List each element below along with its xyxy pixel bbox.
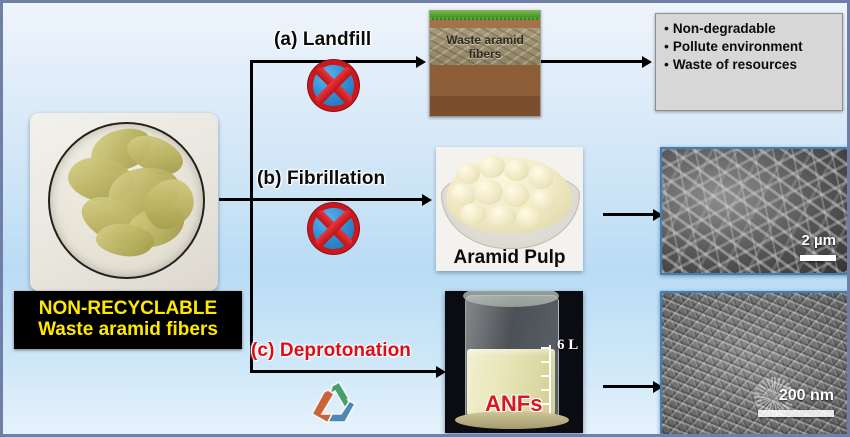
graduation-rail [549, 345, 551, 419]
no-entry-icon [313, 65, 354, 106]
arrowhead-landfill [416, 56, 426, 68]
no-entry-icon [313, 208, 354, 249]
flow-line-anfs-tem [603, 385, 655, 388]
bullet-icon: • [664, 57, 669, 71]
bullet-icon: • [664, 21, 669, 35]
route-label-landfill: (a) Landfill [274, 29, 371, 51]
outcome-label: Waste of resources [673, 57, 797, 74]
outcome-label: Pollute environment [673, 39, 803, 56]
anfs-photo: 6 L ANFs [445, 291, 583, 433]
grass-layer [430, 11, 540, 20]
deep-soil-layer [430, 96, 540, 116]
tem-aramid-nanofibers: 200 nm [660, 291, 850, 437]
scale-bar [758, 410, 834, 417]
route-label-fibrillation: (b) Fibrillation [257, 168, 385, 190]
aramid-pulp-photo: Aramid Pulp [436, 147, 583, 271]
flow-line-landfill [250, 60, 418, 63]
scale-label: 200 nm [779, 387, 834, 405]
waste-fibers-photo [30, 113, 218, 291]
source-label: NON-RECYCLABLE Waste aramid fibers [14, 291, 242, 349]
flow-line-landfill-outcome [539, 60, 644, 63]
outcome-item: • Pollute environment [662, 39, 834, 56]
scale-label: 2 µm [802, 232, 837, 249]
volume-marking: 6 L [557, 337, 578, 354]
figure-canvas: (a) Landfill (b) Fibrillation (c) Deprot… [0, 0, 850, 437]
bullet-icon: • [664, 39, 669, 53]
landfill-caption: Waste aramid fibers [430, 33, 540, 61]
arrowhead-landfill-outcome [642, 56, 652, 68]
landfill-illustration: Waste aramid fibers [429, 10, 541, 117]
outcome-label: Non-degradable [673, 21, 776, 38]
flow-trunk [250, 60, 253, 373]
flow-line-deprotonation [250, 370, 438, 373]
source-label-line1: NON-RECYCLABLE [14, 299, 242, 320]
route-label-deprotonation: (c) Deprotonation [251, 340, 411, 362]
flow-line-source [219, 198, 253, 201]
pulp-caption: Aramid Pulp [436, 247, 583, 269]
outcomes-box: • Non-degradable • Pollute environment •… [655, 13, 843, 111]
source-label-line2: Waste aramid fibers [14, 320, 242, 341]
flow-line-pulp-sem [603, 213, 655, 216]
outcome-item: • Non-degradable [662, 21, 834, 38]
sem-aramid-pulp: 2 µm [660, 147, 850, 275]
subsoil-layer [430, 65, 540, 96]
outcome-item: • Waste of resources [662, 57, 834, 74]
recycle-icon [308, 378, 366, 430]
anfs-caption: ANFs [485, 391, 542, 417]
arrowhead-fibrillation [422, 194, 432, 206]
petri-dish [48, 122, 205, 279]
flow-line-fibrillation [250, 198, 424, 201]
topsoil-layer [430, 20, 540, 28]
scale-bar [800, 255, 836, 261]
waste-bed-layer: Waste aramid fibers [430, 28, 540, 65]
